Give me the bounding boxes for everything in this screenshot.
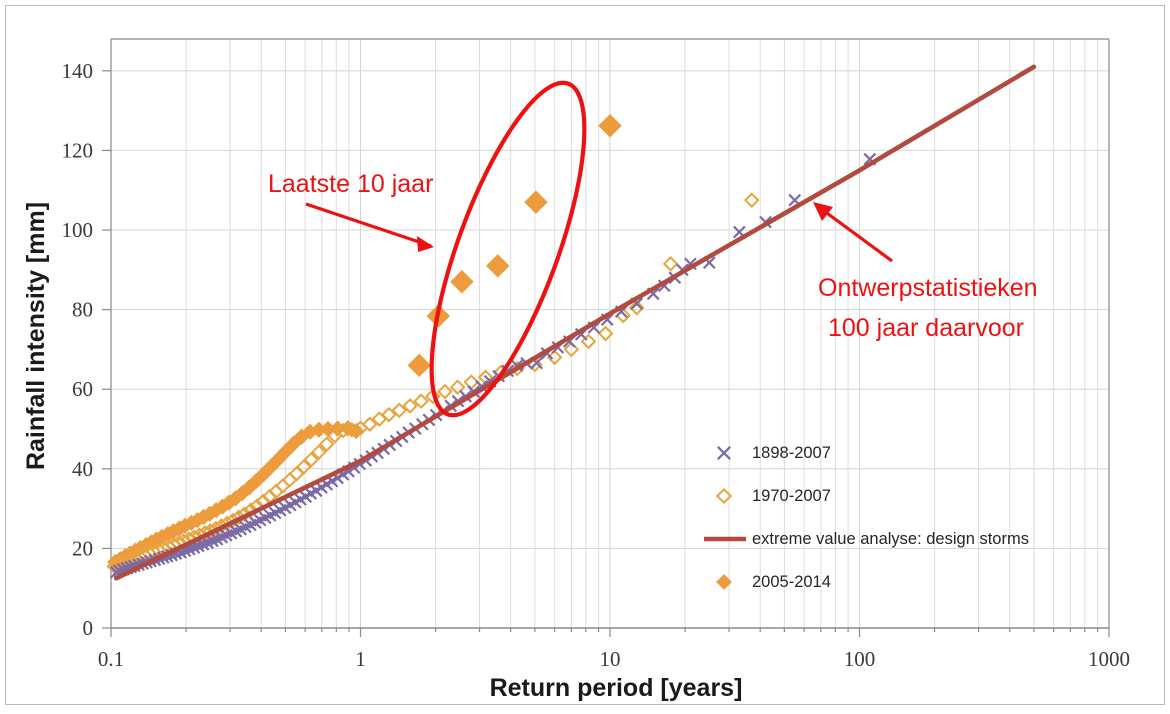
legend-item-label: 2005-2014 (752, 573, 831, 591)
y-tick-label: 80 (72, 298, 93, 322)
figure-frame: 0.11101001000 020406080100120140 Return … (5, 5, 1165, 705)
chart-legend: 1898-20071970-2007extreme value analyse:… (704, 444, 1029, 591)
x-axis-tick-labels: 0.11101001000 (98, 647, 1130, 671)
series-1898-2007 (111, 154, 876, 578)
legend-item-label: extreme value analyse: design storms (752, 530, 1029, 548)
legend-x-icon (718, 447, 730, 459)
annotation-last-10-years: Laatste 10 jaar (268, 67, 615, 432)
diamond-filled-marker (525, 191, 547, 213)
design-statistics-label-line1: Ontwerpstatistieken (818, 274, 1038, 302)
x-tick-label: 0.1 (98, 647, 124, 671)
y-tick-label: 40 (72, 457, 93, 481)
x-axis-title: Return period [years] (490, 674, 743, 702)
design-statistics-label-line2: 100 jaar daarvoor (828, 314, 1024, 342)
x-tick-label: 100 (844, 647, 876, 671)
last-10-years-arrow-shaft (306, 204, 431, 246)
y-axis-tick-labels: 020406080100120140 (62, 59, 94, 640)
diamond-filled-marker (408, 354, 430, 376)
x-tick-label: 10 (600, 647, 621, 671)
last-10-years-label: Laatste 10 jaar (268, 170, 433, 198)
y-tick-label: 20 (72, 536, 93, 560)
y-tick-label: 120 (62, 138, 94, 162)
diamond-filled-marker (599, 115, 621, 137)
y-tick-label: 60 (72, 377, 93, 401)
chart-page: 0.11101001000 020406080100120140 Return … (0, 0, 1170, 714)
diamond-filled-marker (451, 271, 473, 293)
design-statistics-arrow-head (813, 202, 833, 221)
y-tick-label: 100 (62, 218, 94, 242)
y-axis-title: Rainfall intensity [mm] (22, 202, 50, 470)
legend-item[interactable]: extreme value analyse: design storms (704, 530, 1029, 548)
legend-item[interactable]: 1898-2007 (718, 444, 831, 462)
axis-ticks-layer (102, 71, 1109, 637)
y-tick-label: 0 (83, 616, 94, 640)
series-2005-2014-cluster (108, 421, 364, 570)
last-10-years-ellipse (401, 67, 615, 432)
legend-item[interactable]: 1970-2007 (717, 487, 831, 505)
series-2005-2014 (408, 115, 621, 377)
x-tick-label: 1000 (1088, 647, 1130, 671)
legend-item[interactable]: 2005-2014 (717, 573, 831, 591)
diamond-open-marker (439, 385, 452, 398)
legend-item-label: 1898-2007 (752, 444, 831, 462)
rainfall-intensity-return-period-chart: 0.11101001000 020406080100120140 Return … (6, 6, 1164, 704)
last-10-years-arrow-head (417, 236, 434, 252)
y-tick-label: 140 (62, 59, 94, 83)
annotation-design-statistics: Ontwerpstatistieken 100 jaar daarvoor (813, 202, 1038, 342)
diamond-open-marker (664, 257, 677, 270)
diamond-filled-marker (487, 255, 509, 277)
diamond-open-marker (745, 194, 758, 207)
x-tick-label: 1 (355, 647, 366, 671)
legend-item-label: 1970-2007 (752, 487, 831, 505)
